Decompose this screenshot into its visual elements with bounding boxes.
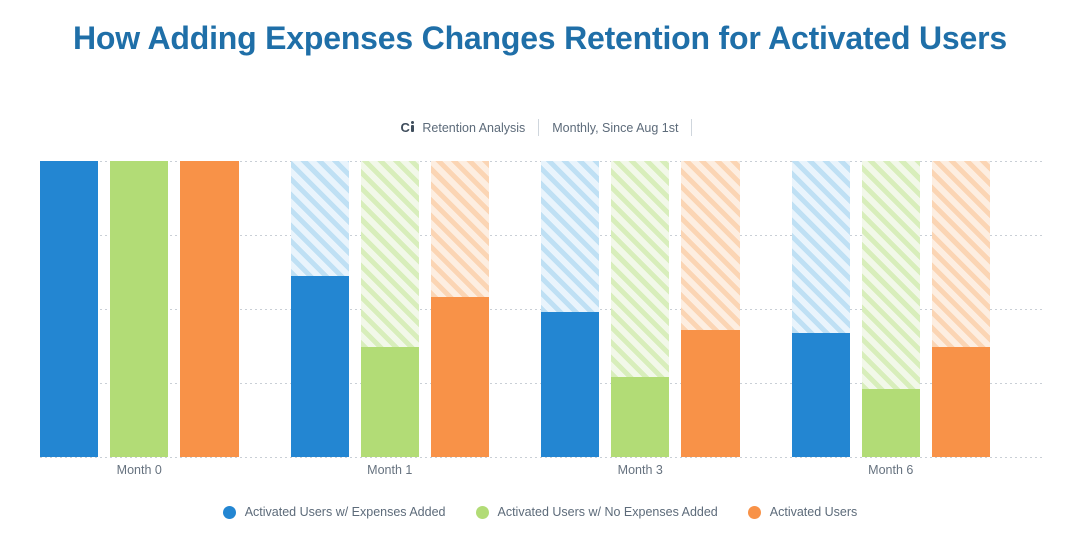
bar-group — [541, 161, 792, 457]
x-axis-label: Month 3 — [541, 460, 792, 480]
x-axis: Month 0Month 1Month 3Month 6 — [40, 460, 1042, 480]
chart-page: How Adding Expenses Changes Retention fo… — [0, 0, 1080, 543]
bar-value — [862, 389, 920, 457]
bar-value — [180, 161, 238, 457]
bar-value — [611, 377, 669, 457]
bar-remainder — [611, 161, 669, 377]
bar-no-expenses-added[interactable] — [862, 161, 920, 457]
subtitle-bar: C Retention Analysis Monthly, Since Aug … — [0, 119, 1080, 136]
bar-no-expenses-added[interactable] — [361, 161, 419, 457]
bar-group — [792, 161, 1043, 457]
legend-item[interactable]: Activated Users — [748, 505, 858, 519]
gridline — [40, 457, 1042, 458]
legend-color-dot — [476, 506, 489, 519]
bar-value — [541, 312, 599, 457]
bar-expenses-added[interactable] — [291, 161, 349, 457]
bar-remainder — [291, 161, 349, 276]
bar-expenses-added[interactable] — [541, 161, 599, 457]
bar-remainder — [681, 161, 739, 330]
x-axis-label: Month 6 — [792, 460, 1043, 480]
legend-item[interactable]: Activated Users w/ Expenses Added — [223, 505, 446, 519]
timeframe-label: Monthly, Since Aug 1st — [552, 121, 678, 135]
bar-activated-users[interactable] — [932, 161, 990, 457]
ci-logo-icon: C — [401, 120, 416, 135]
bar-group — [291, 161, 542, 457]
legend-label: Activated Users — [770, 505, 858, 519]
bar-value — [361, 347, 419, 457]
bar-no-expenses-added[interactable] — [611, 161, 669, 457]
x-axis-label: Month 0 — [40, 460, 291, 480]
page-title: How Adding Expenses Changes Retention fo… — [0, 18, 1080, 59]
bar-group — [40, 161, 291, 457]
legend-label: Activated Users w/ Expenses Added — [245, 505, 446, 519]
x-axis-label: Month 1 — [291, 460, 542, 480]
bar-remainder — [792, 161, 850, 333]
legend-color-dot — [223, 506, 236, 519]
bar-value — [291, 276, 349, 457]
bar-remainder — [862, 161, 920, 389]
bar-value — [110, 161, 168, 457]
bar-value — [431, 297, 489, 457]
bar-value — [681, 330, 739, 457]
bar-expenses-added[interactable] — [40, 161, 98, 457]
bar-remainder — [932, 161, 990, 347]
report-name-segment[interactable]: C Retention Analysis — [388, 119, 539, 136]
bar-remainder — [361, 161, 419, 347]
bar-value — [792, 333, 850, 457]
subtitle-divider-2 — [691, 119, 692, 136]
bar-remainder — [541, 161, 599, 312]
bar-remainder — [431, 161, 489, 297]
bar-value — [40, 161, 98, 457]
bar-activated-users[interactable] — [431, 161, 489, 457]
legend: Activated Users w/ Expenses AddedActivat… — [0, 505, 1080, 519]
bar-activated-users[interactable] — [180, 161, 238, 457]
legend-label: Activated Users w/ No Expenses Added — [498, 505, 718, 519]
bar-activated-users[interactable] — [681, 161, 739, 457]
bar-no-expenses-added[interactable] — [110, 161, 168, 457]
bar-value — [932, 347, 990, 457]
bar-groups — [40, 161, 1042, 457]
bar-expenses-added[interactable] — [792, 161, 850, 457]
legend-color-dot — [748, 506, 761, 519]
title-block: How Adding Expenses Changes Retention fo… — [0, 18, 1080, 59]
report-name-label: Retention Analysis — [422, 121, 525, 135]
timeframe-segment[interactable]: Monthly, Since Aug 1st — [539, 119, 691, 136]
legend-item[interactable]: Activated Users w/ No Expenses Added — [476, 505, 718, 519]
plot-area — [40, 161, 1042, 457]
